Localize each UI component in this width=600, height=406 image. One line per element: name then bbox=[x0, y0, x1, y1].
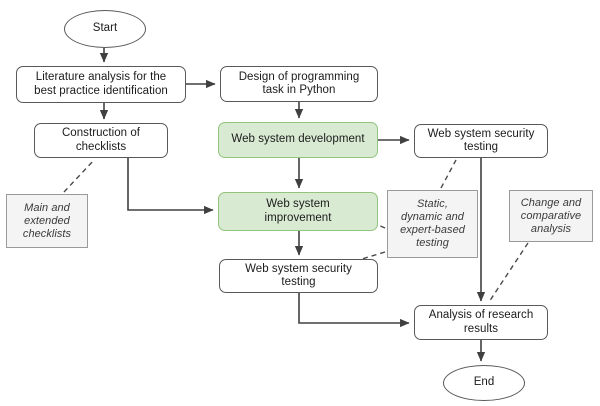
node-web-system-security-testing-2-label: Web system security testing bbox=[242, 263, 355, 290]
node-construction-of-checklists-label: Construction of checklists bbox=[59, 127, 143, 154]
node-construction-of-checklists[interactable]: Construction of checklists bbox=[34, 123, 168, 158]
node-start[interactable]: Start bbox=[64, 10, 146, 48]
node-web-system-security-testing-1[interactable]: Web system security testing bbox=[414, 124, 548, 158]
node-web-system-security-testing-2[interactable]: Web system security testing bbox=[219, 259, 378, 293]
edge-note-analysis bbox=[489, 243, 528, 302]
note-static-dynamic-expert-based-testing-label: Static, dynamic and expert-based testing bbox=[397, 198, 468, 250]
node-literature-analysis[interactable]: Literature analysis for the best practic… bbox=[16, 66, 186, 103]
node-design-of-programming-task-label: Design of programming task in Python bbox=[236, 71, 363, 98]
edge-security2-analysis bbox=[299, 293, 409, 323]
node-web-system-improvement[interactable]: Web system improvement bbox=[218, 192, 378, 231]
node-web-system-security-testing-1-label: Web system security testing bbox=[425, 128, 538, 155]
node-web-system-development-label: Web system development bbox=[228, 133, 367, 147]
edge-note-checklists bbox=[64, 160, 94, 192]
node-analysis-of-research-results-label: Analysis of research results bbox=[426, 309, 537, 336]
node-analysis-of-research-results[interactable]: Analysis of research results bbox=[414, 305, 548, 340]
node-design-of-programming-task[interactable]: Design of programming task in Python bbox=[220, 66, 378, 102]
note-change-and-comparative-analysis[interactable]: Change and comparative analysis bbox=[509, 190, 593, 242]
node-end-label: End bbox=[471, 376, 498, 390]
edge-checklists-improvement bbox=[128, 158, 213, 210]
node-web-system-improvement-label: Web system improvement bbox=[261, 198, 334, 225]
node-start-label: Start bbox=[90, 22, 121, 36]
note-main-and-extended-checklists[interactable]: Main and extended checklists bbox=[6, 194, 88, 248]
note-main-and-extended-checklists-label: Main and extended checklists bbox=[20, 202, 74, 241]
flowchart-canvas: Start Literature analysis for the best p… bbox=[0, 0, 600, 406]
note-change-and-comparative-analysis-label: Change and comparative analysis bbox=[518, 197, 584, 236]
edge-note-testing-security1 bbox=[441, 160, 456, 188]
node-web-system-development[interactable]: Web system development bbox=[218, 122, 378, 158]
note-static-dynamic-expert-based-testing[interactable]: Static, dynamic and expert-based testing bbox=[387, 190, 478, 258]
node-end[interactable]: End bbox=[443, 365, 525, 401]
node-literature-analysis-label: Literature analysis for the best practic… bbox=[31, 71, 171, 98]
